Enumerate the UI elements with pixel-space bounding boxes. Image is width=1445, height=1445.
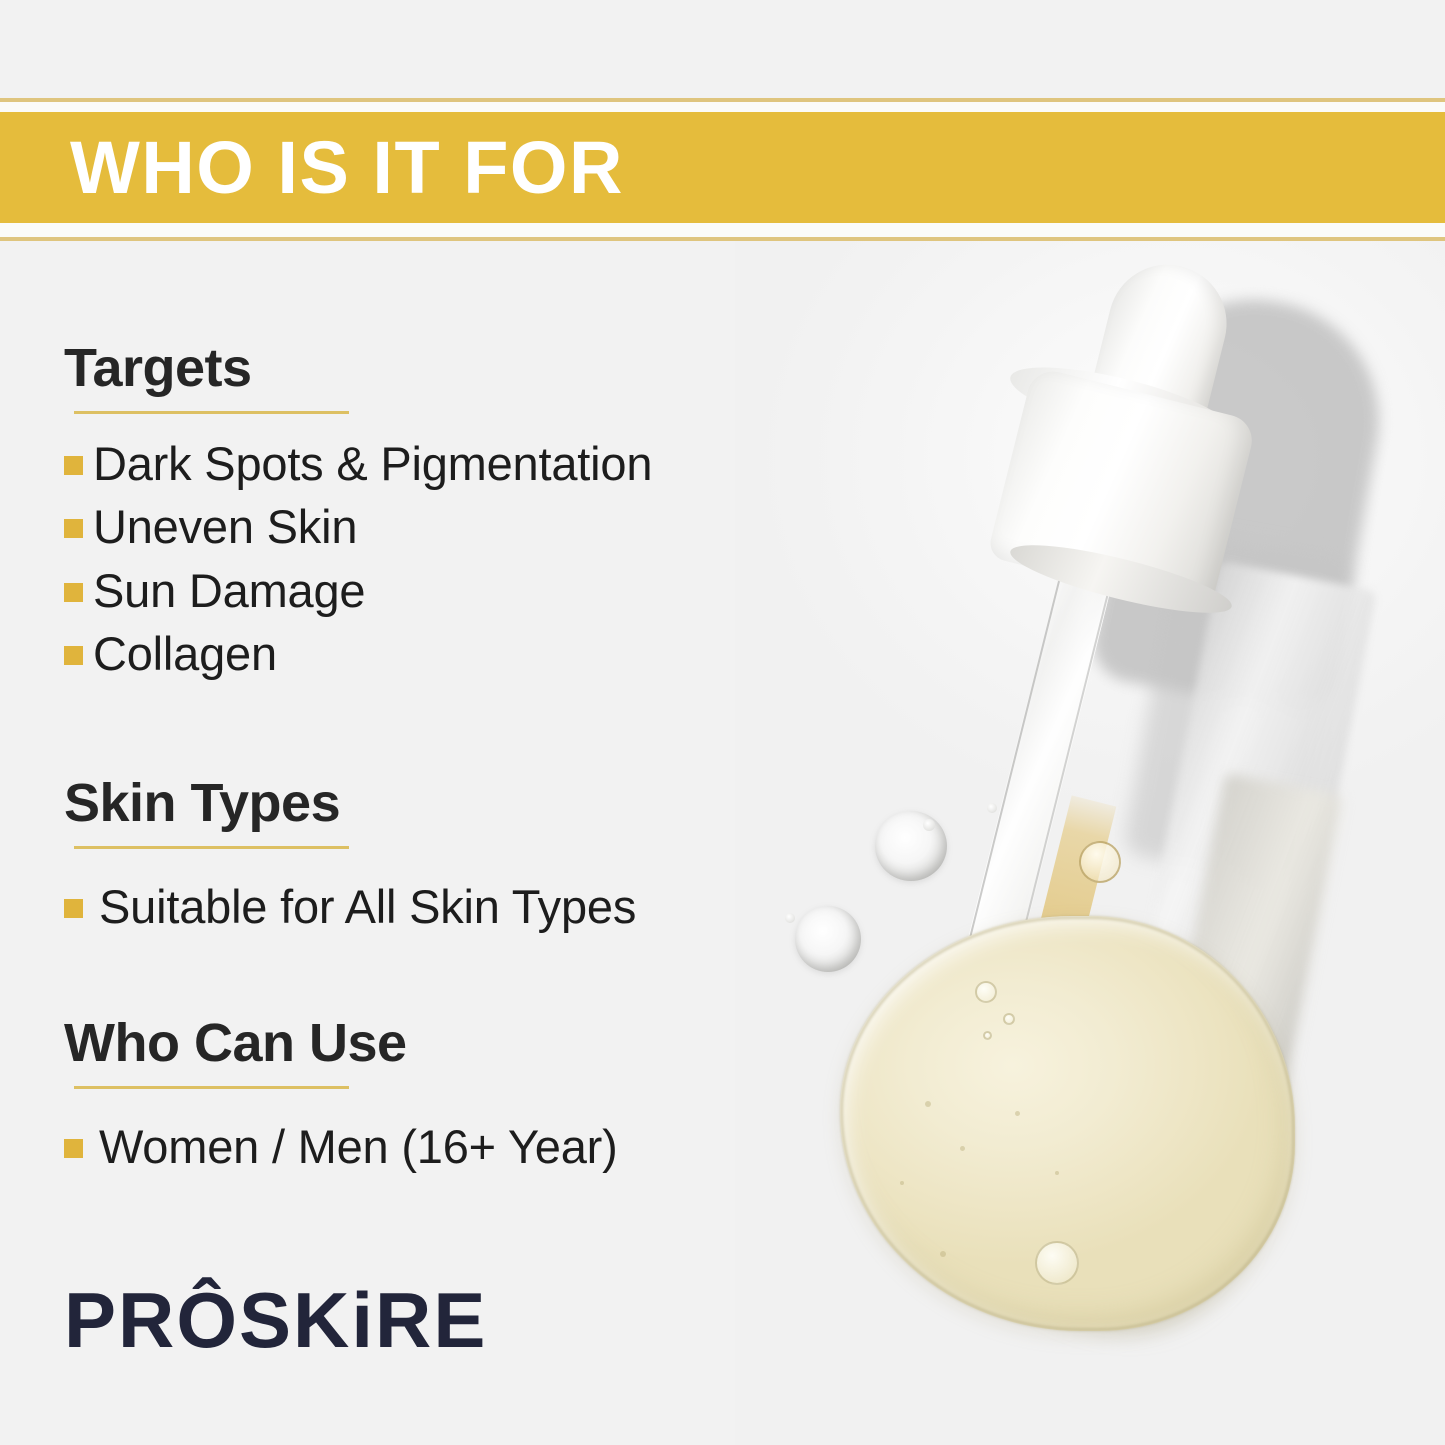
list-item-label: Suitable for All Skin Types — [99, 875, 636, 938]
puddle-speck — [1015, 1111, 1020, 1116]
heading-underline — [74, 411, 349, 414]
puddle-speck — [1055, 1171, 1059, 1175]
puddle-bubble — [983, 1031, 992, 1040]
section-who-can-use: Who Can Use Women / Men (16+ Year) — [64, 1015, 618, 1178]
micro-droplet — [987, 803, 997, 813]
puddle-bubble — [1003, 1013, 1015, 1025]
list-item: Sun Damage — [64, 559, 652, 622]
list-item: Dark Spots & Pigmentation — [64, 432, 652, 495]
brand-logo: PRÔSKiRE — [64, 1281, 487, 1359]
heading-underline — [74, 1086, 349, 1089]
puddle-speck — [960, 1146, 965, 1151]
bullet-square-icon — [64, 646, 83, 665]
bullet-square-icon — [64, 1139, 83, 1158]
section-heading: Skin Types — [64, 775, 636, 832]
list-item: Uneven Skin — [64, 495, 652, 558]
infographic-page: WHO IS IT FOR Targets Dark Spots & Pigme… — [0, 0, 1445, 1445]
section-skin-types: Skin Types Suitable for All Skin Types — [64, 775, 636, 938]
list-item: Collagen — [64, 622, 652, 685]
bullet-list: Suitable for All Skin Types — [64, 875, 636, 938]
puddle-speck — [940, 1251, 946, 1257]
heading-underline — [74, 846, 349, 849]
section-targets: Targets Dark Spots & Pigmentation Uneven… — [64, 340, 652, 685]
water-droplet — [875, 811, 947, 881]
puddle-bubble — [1035, 1241, 1079, 1285]
list-item-label: Sun Damage — [93, 559, 365, 622]
bullet-square-icon — [64, 899, 83, 918]
list-item-label: Women / Men (16+ Year) — [99, 1115, 618, 1178]
puddle-bubble — [975, 981, 997, 1003]
section-heading: Targets — [64, 340, 652, 397]
list-item: Women / Men (16+ Year) — [64, 1115, 618, 1178]
bullet-list: Women / Men (16+ Year) — [64, 1115, 618, 1178]
micro-droplet — [923, 819, 935, 831]
bullet-square-icon — [64, 456, 83, 475]
bullet-square-icon — [64, 519, 83, 538]
list-item-label: Collagen — [93, 622, 277, 685]
list-item: Suitable for All Skin Types — [64, 875, 636, 938]
list-item-label: Uneven Skin — [93, 495, 357, 558]
content-column: Targets Dark Spots & Pigmentation Uneven… — [0, 0, 860, 1445]
section-heading: Who Can Use — [64, 1015, 618, 1072]
bullet-list: Dark Spots & Pigmentation Uneven Skin Su… — [64, 432, 652, 686]
bullet-square-icon — [64, 583, 83, 602]
puddle-speck — [925, 1101, 931, 1107]
puddle-speck — [900, 1181, 904, 1185]
list-item-label: Dark Spots & Pigmentation — [93, 432, 652, 495]
